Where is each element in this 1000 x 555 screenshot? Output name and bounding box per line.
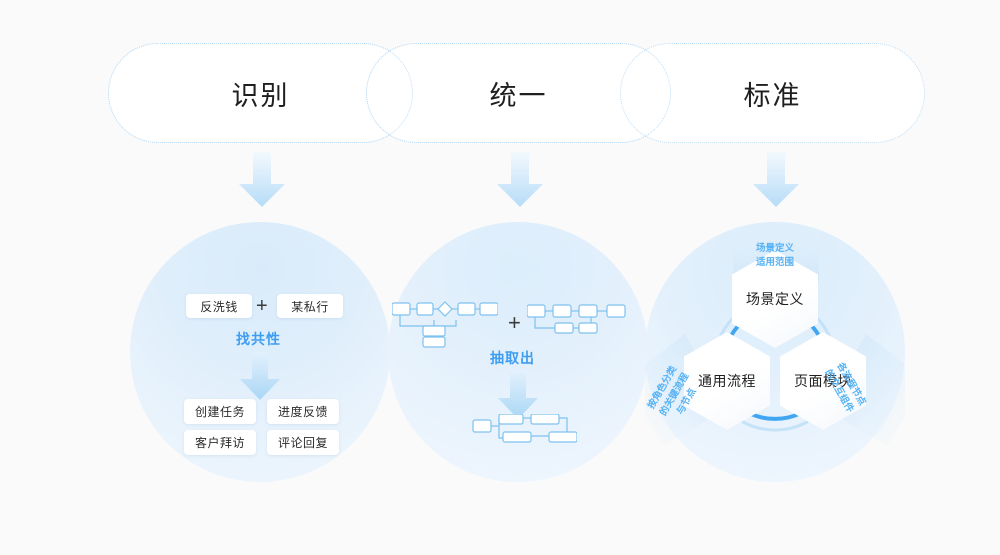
chip-progress-feedback[interactable]: 进度反馈: [267, 399, 339, 424]
down-arrow-icon: [497, 152, 543, 207]
header-pill-label: 识别: [232, 74, 290, 113]
flowchart-branching: [527, 300, 635, 342]
chip-customer-visit[interactable]: 客户拜访: [184, 430, 256, 455]
down-arrow-icon: [240, 352, 280, 400]
header-pill-label: 标准: [744, 74, 802, 113]
chip-anti-money-laundering[interactable]: 反洗钱: [186, 294, 252, 318]
chip-label: 反洗钱: [200, 298, 238, 315]
hexagon-trio-group: 场景定义 通用流程 页面模块 场景定义 适用范围 按角色分类 的关键流程 与节点…: [645, 222, 905, 482]
chip-label: 创建任务: [195, 403, 245, 420]
header-pill-standard[interactable]: 标准: [620, 43, 925, 143]
caption-extract: 抽取出: [490, 348, 535, 368]
hexagon-label: 场景定义: [746, 289, 804, 309]
flowchart-extracted-common: [455, 414, 577, 446]
caption-find-commonality: 找共性: [236, 329, 281, 349]
chip-label: 某私行: [291, 298, 329, 315]
chip-private-bank[interactable]: 某私行: [277, 294, 343, 318]
beam-label-top: 场景定义 适用范围: [735, 242, 815, 270]
hexagon-label: 通用流程: [698, 371, 756, 391]
beam-label-top-line2: 适用范围: [735, 256, 815, 270]
chip-label: 客户拜访: [195, 434, 245, 451]
chip-label: 评论回复: [278, 434, 328, 451]
diagram-canvas: 识别 统一 标准 反洗钱 + 某私行 找共性: [0, 0, 1000, 555]
plus-icon: +: [508, 312, 521, 334]
down-arrow-icon: [239, 152, 285, 207]
plus-icon: +: [256, 296, 268, 316]
down-arrow-icon: [498, 371, 538, 419]
flowchart-with-decision-diamond: [392, 298, 498, 348]
down-arrow-icon: [753, 152, 799, 207]
header-pill-label: 统一: [490, 74, 548, 113]
chip-create-task[interactable]: 创建任务: [184, 399, 256, 424]
chip-comment-reply[interactable]: 评论回复: [267, 430, 339, 455]
beam-label-top-line1: 场景定义: [735, 242, 815, 256]
chip-label: 进度反馈: [278, 403, 328, 420]
